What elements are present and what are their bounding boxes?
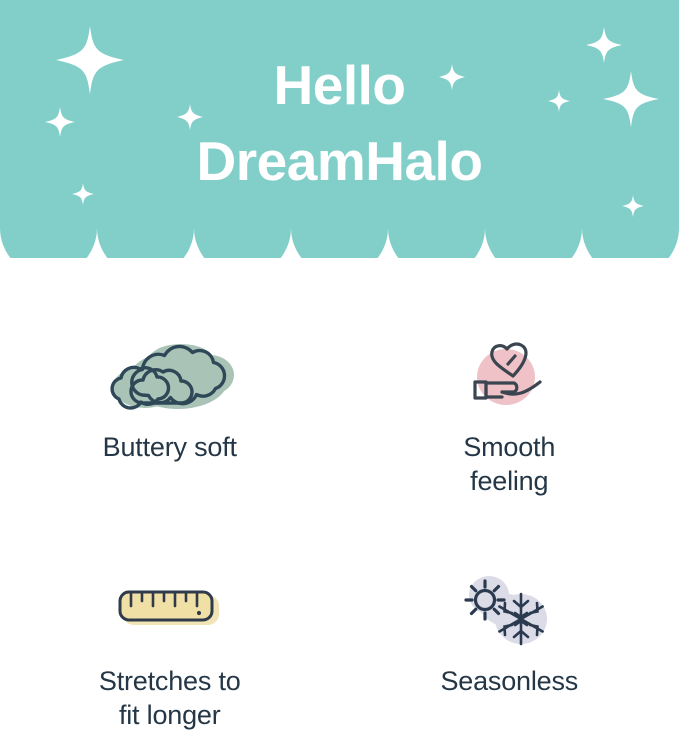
sparkle-large-top-left xyxy=(56,26,124,94)
sparkle-small-left xyxy=(45,107,75,137)
feature-label-smooth-feeling: Smooth feeling xyxy=(463,430,555,498)
sparkle-tiny-left-lower xyxy=(72,183,94,205)
sparkle-group xyxy=(0,0,679,258)
sparkle-tiny-mid-top xyxy=(439,64,465,90)
hand-holding-heart-icon xyxy=(464,334,554,416)
feature-label-line: Stretches to xyxy=(99,664,241,698)
feature-smooth-feeling: Smooth feeling xyxy=(340,258,679,498)
feature-label-line: Seasonless xyxy=(440,664,578,698)
sun-snowflake-icon xyxy=(459,568,559,650)
feature-grid: Buttery soft Sm xyxy=(0,258,679,676)
feature-label-line: fit longer xyxy=(99,698,241,732)
feature-label-line: Buttery soft xyxy=(103,430,237,464)
feature-buttery-soft: Buttery soft xyxy=(0,258,340,498)
feature-label-stretches-to-fit-longer: Stretches to fit longer xyxy=(99,664,241,732)
sparkle-tiny-right-lower xyxy=(622,195,644,217)
sparkle-small-right-top xyxy=(586,27,622,63)
header-banner: Hello DreamHalo xyxy=(0,0,679,258)
feature-label-buttery-soft: Buttery soft xyxy=(103,430,237,464)
feature-seasonless: Seasonless xyxy=(340,498,679,732)
feature-label-seasonless: Seasonless xyxy=(440,664,578,698)
ruler-icon xyxy=(115,568,225,650)
sparkle-tiny-right xyxy=(548,90,570,112)
sparkle-tiny-mid-left xyxy=(177,104,203,130)
feature-label-line: feeling xyxy=(463,464,555,498)
cloud-icon xyxy=(95,334,245,416)
feature-label-line: Smooth xyxy=(463,430,555,464)
sparkle-large-right xyxy=(603,71,659,127)
feature-stretches-to-fit-longer: Stretches to fit longer xyxy=(0,498,340,732)
